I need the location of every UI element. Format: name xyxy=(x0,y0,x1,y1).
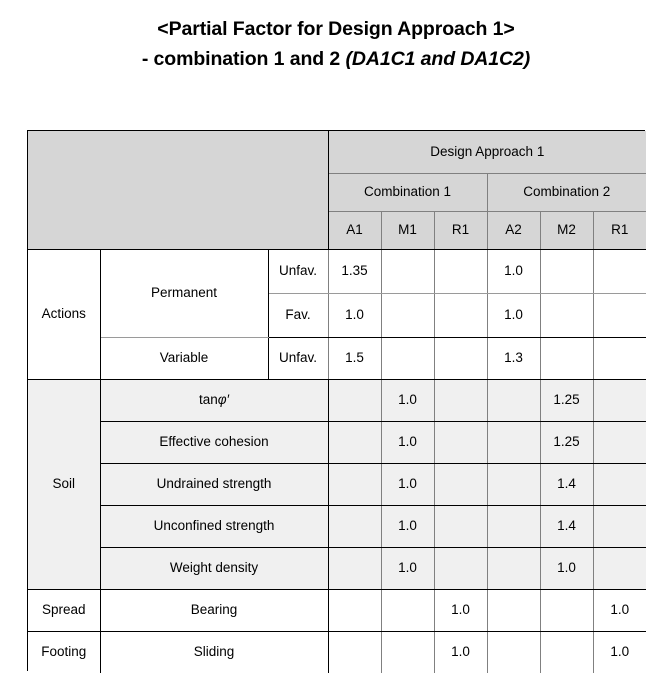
table-row-variable-unfav: Variable Unfav. 1.5 1.3 xyxy=(28,337,646,379)
cell-permanent-unfav-a1: 1.35 xyxy=(328,249,381,293)
cell-sliding-m1 xyxy=(381,631,434,673)
cell-undr-r1b xyxy=(593,463,646,505)
cell-tanphi-a1 xyxy=(328,379,381,421)
header-col-m1: M1 xyxy=(381,211,434,249)
header-design-approach: Design Approach 1 xyxy=(328,131,646,173)
cell-undr-a1 xyxy=(328,463,381,505)
item-label-tan-phi-symbol: φ′ xyxy=(218,392,229,407)
cell-effcoh-r1b xyxy=(593,421,646,463)
table-row-effective-cohesion: Effective cohesion 1.0 1.25 xyxy=(28,421,646,463)
cell-permanent-unfav-a2: 1.0 xyxy=(487,249,540,293)
cell-bearing-r1b: 1.0 xyxy=(593,589,646,631)
table-row-unconfined-strength: Unconfined strength 1.0 1.4 xyxy=(28,505,646,547)
cell-variable-unfav-a2: 1.3 xyxy=(487,337,540,379)
table-row-tan-phi: Soil tanφ′ 1.0 1.25 xyxy=(28,379,646,421)
cell-tanphi-a2 xyxy=(487,379,540,421)
page-title-line-1: <Partial Factor for Design Approach 1> xyxy=(0,14,672,44)
item-label-effective-cohesion: Effective cohesion xyxy=(100,421,328,463)
cell-unconf-r1 xyxy=(434,505,487,547)
header-col-a2: A2 xyxy=(487,211,540,249)
table-row-permanent-unfav: Actions Permanent Unfav. 1.35 1.0 xyxy=(28,249,646,293)
table-row-undrained-strength: Undrained strength 1.0 1.4 xyxy=(28,463,646,505)
cell-permanent-unfav-m2 xyxy=(540,249,593,293)
cell-undr-m2: 1.4 xyxy=(540,463,593,505)
cell-bearing-a1 xyxy=(328,589,381,631)
cell-unconf-m1: 1.0 xyxy=(381,505,434,547)
item-label-weight-density: Weight density xyxy=(100,547,328,589)
partial-factor-table: Design Approach 1 Combination 1 Combinat… xyxy=(28,131,646,673)
header-col-r1-2: R1 xyxy=(593,211,646,249)
cell-sliding-m2 xyxy=(540,631,593,673)
cell-wdens-r1b xyxy=(593,547,646,589)
group-label-spread: Spread xyxy=(28,589,100,631)
page-title-line-2-plain: - combination 1 and 2 xyxy=(142,48,346,70)
header-corner-blank xyxy=(28,131,328,249)
header-col-a1: A1 xyxy=(328,211,381,249)
cell-permanent-fav-a2: 1.0 xyxy=(487,293,540,337)
cell-sliding-a1 xyxy=(328,631,381,673)
cell-wdens-m2: 1.0 xyxy=(540,547,593,589)
page-title-line-2: - combination 1 and 2 (DA1C1 and DA1C2) xyxy=(0,44,672,74)
cell-effcoh-a1 xyxy=(328,421,381,463)
item-label-undrained-strength: Undrained strength xyxy=(100,463,328,505)
cell-undr-a2 xyxy=(487,463,540,505)
item-label-variable: Variable xyxy=(100,337,268,379)
item-label-sliding: Sliding xyxy=(100,631,328,673)
item-label-tan-phi: tanφ′ xyxy=(100,379,328,421)
group-label-soil: Soil xyxy=(28,379,100,589)
cell-unconf-a1 xyxy=(328,505,381,547)
header-col-m2: M2 xyxy=(540,211,593,249)
cell-permanent-fav-r1b xyxy=(593,293,646,337)
cell-bearing-a2 xyxy=(487,589,540,631)
cell-effcoh-r1 xyxy=(434,421,487,463)
cell-variable-unfav-r1b xyxy=(593,337,646,379)
header-col-r1: R1 xyxy=(434,211,487,249)
qualifier-fav-permanent: Fav. xyxy=(268,293,328,337)
cell-wdens-m1: 1.0 xyxy=(381,547,434,589)
cell-permanent-fav-r1 xyxy=(434,293,487,337)
cell-wdens-r1 xyxy=(434,547,487,589)
item-label-tan-phi-text: tan xyxy=(199,392,218,407)
cell-variable-unfav-r1 xyxy=(434,337,487,379)
cell-bearing-m2 xyxy=(540,589,593,631)
item-label-bearing: Bearing xyxy=(100,589,328,631)
cell-permanent-fav-a1: 1.0 xyxy=(328,293,381,337)
header-combination-1: Combination 1 xyxy=(328,173,487,211)
cell-permanent-unfav-m1 xyxy=(381,249,434,293)
page-title: <Partial Factor for Design Approach 1> -… xyxy=(0,14,672,74)
cell-variable-unfav-m1 xyxy=(381,337,434,379)
cell-sliding-r1: 1.0 xyxy=(434,631,487,673)
cell-effcoh-m1: 1.0 xyxy=(381,421,434,463)
cell-unconf-a2 xyxy=(487,505,540,547)
cell-undr-r1 xyxy=(434,463,487,505)
cell-sliding-a2 xyxy=(487,631,540,673)
page-root: <Partial Factor for Design Approach 1> -… xyxy=(0,0,672,684)
qualifier-unfav-permanent: Unfav. xyxy=(268,249,328,293)
header-combination-2: Combination 2 xyxy=(487,173,646,211)
cell-effcoh-m2: 1.25 xyxy=(540,421,593,463)
cell-effcoh-a2 xyxy=(487,421,540,463)
table-header-row-design-approach: Design Approach 1 xyxy=(28,131,646,173)
cell-permanent-fav-m1 xyxy=(381,293,434,337)
group-label-footing: Footing xyxy=(28,631,100,673)
page-title-line-2-italic: (DA1C1 and DA1C2) xyxy=(345,48,530,70)
cell-tanphi-r1b xyxy=(593,379,646,421)
cell-permanent-fav-m2 xyxy=(540,293,593,337)
cell-permanent-unfav-r1b xyxy=(593,249,646,293)
cell-variable-unfav-m2 xyxy=(540,337,593,379)
qualifier-unfav-variable: Unfav. xyxy=(268,337,328,379)
cell-tanphi-m1: 1.0 xyxy=(381,379,434,421)
cell-tanphi-m2: 1.25 xyxy=(540,379,593,421)
cell-wdens-a2 xyxy=(487,547,540,589)
partial-factor-table-wrapper: Design Approach 1 Combination 1 Combinat… xyxy=(27,130,645,671)
cell-bearing-r1: 1.0 xyxy=(434,589,487,631)
cell-undr-m1: 1.0 xyxy=(381,463,434,505)
item-label-unconfined-strength: Unconfined strength xyxy=(100,505,328,547)
cell-unconf-r1b xyxy=(593,505,646,547)
cell-wdens-a1 xyxy=(328,547,381,589)
cell-unconf-m2: 1.4 xyxy=(540,505,593,547)
cell-bearing-m1 xyxy=(381,589,434,631)
cell-sliding-r1b: 1.0 xyxy=(593,631,646,673)
cell-tanphi-r1 xyxy=(434,379,487,421)
table-row-weight-density: Weight density 1.0 1.0 xyxy=(28,547,646,589)
item-label-permanent: Permanent xyxy=(100,249,268,337)
cell-variable-unfav-a1: 1.5 xyxy=(328,337,381,379)
group-label-actions: Actions xyxy=(28,249,100,379)
table-row-sliding: Footing Sliding 1.0 1.0 xyxy=(28,631,646,673)
cell-permanent-unfav-r1 xyxy=(434,249,487,293)
table-row-bearing: Spread Bearing 1.0 1.0 xyxy=(28,589,646,631)
